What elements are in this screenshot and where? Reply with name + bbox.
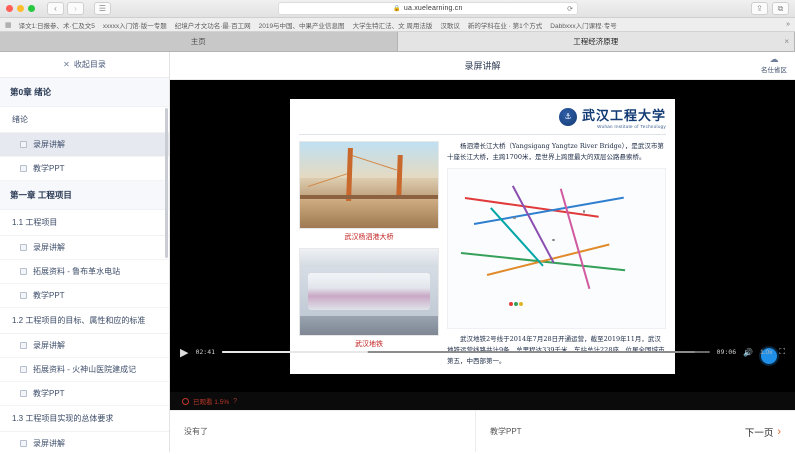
outline-leaf-label: 录屏讲解 — [33, 139, 65, 150]
tab-close-icon[interactable]: × — [784, 37, 789, 46]
video-player[interactable]: ⚓ 武汉工程大学 Wuhan Institute of Technology — [170, 80, 795, 392]
close-window-button[interactable] — [6, 5, 13, 12]
browser-tab-course[interactable]: 工程经济原理 × — [398, 32, 795, 51]
close-icon: ✕ — [63, 60, 70, 69]
university-emblem-icon: ⚓ — [559, 108, 577, 126]
outline-leaf-recording[interactable]: 录屏讲解 — [0, 236, 169, 260]
next-item[interactable]: 教学PPT 下一页 › — [476, 411, 795, 452]
university-name-en: Wuhan Institute of Technology — [582, 124, 666, 129]
page-title: 录屏讲解 — [464, 59, 500, 72]
outline-leaf-label: 拓展资料 - 鲁布革水电站 — [33, 266, 120, 277]
outline-leaf-ppt[interactable]: 教学PPT — [0, 382, 169, 406]
navigation-buttons: ‹ › — [47, 2, 84, 15]
tab-strip: 主页 工程经济原理 × — [0, 32, 795, 52]
bookmark-item[interactable]: Dabbxxx入门课程·专号 — [550, 20, 616, 30]
slide-frame: ⚓ 武汉工程大学 Wuhan Institute of Technology — [290, 99, 675, 374]
tab-title: 主页 — [191, 36, 206, 47]
maximize-window-button[interactable] — [28, 5, 35, 12]
outline-leaf-label: 教学PPT — [33, 163, 65, 174]
play-icon[interactable]: ▶ — [180, 346, 188, 359]
outline-leaf-label: 录屏讲解 — [33, 242, 65, 253]
legend-dot — [514, 302, 518, 306]
bridge-caption: 武汉杨泗港大桥 — [299, 229, 439, 242]
bridge-tower — [396, 155, 403, 198]
outline-chapter[interactable]: 第0章 绪论 — [0, 78, 169, 107]
help-icon[interactable]: ? — [233, 398, 237, 405]
university-name-cn: 武汉工程大学 — [582, 105, 666, 124]
city-skyline — [300, 178, 438, 197]
outline-section[interactable]: 1.1 工程项目 — [0, 210, 169, 236]
metro-station-dot — [513, 217, 516, 220]
next-page-button[interactable]: 下一页 › — [745, 425, 781, 439]
next-title: 教学PPT — [490, 426, 522, 437]
metro-photo — [299, 248, 439, 336]
volume-icon[interactable]: 🔊 — [743, 348, 753, 357]
total-time: 09:06 — [717, 348, 737, 356]
played-bar — [222, 351, 368, 353]
reload-icon[interactable]: ⟳ — [567, 5, 573, 13]
sidebar-toggle-icon[interactable]: ☰ — [94, 2, 111, 15]
toolbar-right-icons: ⇪ ⧉ — [751, 2, 789, 15]
tabs-icon[interactable]: ⧉ — [772, 2, 789, 15]
outline-leaf-recording[interactable]: 录屏讲解 — [0, 334, 169, 358]
player-controls: ▶ 02:41 09:06 🔊 1.0x ⛶ — [170, 342, 795, 362]
bookmark-item[interactable]: 汉歌议 — [440, 20, 460, 30]
sidebar-scrollbar[interactable] — [165, 108, 168, 258]
bridge-deck — [300, 195, 438, 199]
watch-progress-label: 已观看 1.5% — [193, 396, 229, 406]
checkbox-icon[interactable] — [20, 268, 27, 275]
progress-slider[interactable] — [222, 351, 710, 353]
previous-item: 没有了 — [170, 411, 476, 452]
apps-grid-icon[interactable]: ▦ — [5, 21, 11, 29]
metro-map-graphic — [447, 168, 666, 330]
bookmark-item[interactable]: 2019与中国、中果产业信息图 — [259, 20, 345, 30]
back-button[interactable]: ‹ — [47, 2, 64, 15]
content-header: 录屏讲解 ☁ 名仕省区 — [170, 52, 795, 80]
bookmark-item[interactable]: 大学生特汇法、文 周用法版 — [353, 20, 433, 30]
bridge-paragraph: 杨泗港长江大桥（Yangsigang Yangtze River Bridge）… — [447, 141, 666, 163]
outline-leaf-label: 录屏讲解 — [33, 438, 65, 449]
station-ceiling — [300, 249, 438, 268]
fullscreen-icon[interactable]: ⛶ — [779, 347, 785, 357]
chevron-right-icon: › — [777, 426, 781, 438]
browser-tab-home[interactable]: 主页 — [0, 32, 398, 51]
legend-dot — [509, 302, 513, 306]
course-player-app: ✕ 收起目录 第0章 绪论 绪论 录屏讲解 教学PPT 第一章 工程项目 1.1… — [0, 52, 795, 452]
bridge-cable — [352, 155, 397, 170]
outline-leaf-extra[interactable]: 拓展资料 - 火神山医院建成记 — [0, 358, 169, 382]
slide-divider — [299, 134, 666, 135]
outline-leaf-ppt[interactable]: 教学PPT — [0, 157, 169, 181]
outline-leaf-ppt[interactable]: 教学PPT — [0, 284, 169, 308]
outline-leaf-label: 录屏讲解 — [33, 340, 65, 351]
playback-speed-button[interactable]: 1.0x — [760, 349, 772, 356]
checkbox-icon[interactable] — [20, 292, 27, 299]
lock-icon: 🔒 — [393, 5, 400, 12]
legend-dot — [519, 302, 523, 306]
outline-leaf-recording[interactable]: 录屏讲解 — [0, 133, 169, 157]
window-controls[interactable] — [6, 5, 35, 12]
outline-leaf-extra[interactable]: 拓展资料 - 鲁布革水电站 — [0, 260, 169, 284]
outline-leaf-label: 教学PPT — [33, 290, 65, 301]
outline-section[interactable]: 绪论 — [0, 107, 169, 133]
bookmarks-bar: ▦ 译文1:日报参、术·仁及文5 xxxxx入门馆·版一专题 纪境户才文功名·最… — [0, 18, 795, 32]
share-icon[interactable]: ⇪ — [751, 2, 768, 15]
tab-title: 工程经济原理 — [573, 36, 618, 47]
checkbox-icon[interactable] — [20, 165, 27, 172]
slide-right-column: 杨泗港长江大桥（Yangsigang Yangtze River Bridge）… — [447, 141, 666, 368]
forward-button[interactable]: › — [67, 2, 84, 15]
url-text: ua.xuelearning.cn — [404, 5, 463, 12]
minimize-window-button[interactable] — [17, 5, 24, 12]
browser-chrome: ‹ › ☰ 🔒 ua.xuelearning.cn ⟳ ⇪ ⧉ ▦ 译文1:日报… — [0, 0, 795, 52]
previous-label: 没有了 — [184, 426, 208, 437]
metro-line — [512, 185, 554, 262]
bookmark-item[interactable]: 新的学科在业 · 第1个方式 — [468, 20, 542, 30]
main-content: 录屏讲解 ☁ 名仕省区 ⚓ 武汉工程大学 Wuhan Institute of … — [170, 52, 795, 452]
slide-body: 武汉杨泗港大桥 武汉地铁 杨泗港长江大桥（Yangsigang — [299, 141, 666, 368]
bridge-photo — [299, 141, 439, 229]
outline-section[interactable]: 1.2 工程项目的目标、属性和应的标准 — [0, 308, 169, 334]
station-platform — [300, 316, 438, 335]
metro-station-dot — [552, 239, 555, 242]
collapse-outline-label: 收起目录 — [74, 59, 106, 70]
outline-leaf-recording[interactable]: 录屏讲解 — [0, 432, 169, 452]
checkbox-icon[interactable] — [20, 390, 27, 397]
metro-line — [465, 197, 598, 217]
footer-navigation: 没有了 教学PPT 下一页 › — [170, 410, 795, 452]
outline-list[interactable]: 第0章 绪论 绪论 录屏讲解 教学PPT 第一章 工程项目 1.1 工程项目 录… — [0, 78, 169, 452]
checkbox-icon[interactable] — [20, 342, 27, 349]
checkbox-icon[interactable] — [20, 244, 27, 251]
checkbox-icon[interactable] — [20, 366, 27, 373]
metro-station-dot — [583, 210, 586, 213]
bookmark-item[interactable]: 译文1:日报参、术·仁及文5 — [19, 20, 95, 30]
outline-section[interactable]: 1.3 工程项目实现的总体要求 — [0, 406, 169, 432]
outline-leaf-label: 拓展资料 - 火神山医院建成记 — [33, 364, 136, 375]
metro-legend-dots — [509, 302, 523, 306]
address-bar-container: 🔒 ua.xuelearning.cn ⟳ — [116, 2, 740, 15]
metro-line — [487, 244, 609, 276]
outline-chapter[interactable]: 第一章 工程项目 — [0, 181, 169, 210]
browser-titlebar: ‹ › ☰ 🔒 ua.xuelearning.cn ⟳ ⇪ ⧉ — [0, 0, 795, 18]
bookmark-item[interactable]: 纪境户才文功名·最·百工网 — [175, 20, 251, 30]
cloud-service-button[interactable]: ☁ 名仕省区 — [761, 54, 787, 74]
collapse-outline-button[interactable]: ✕ 收起目录 — [0, 52, 169, 78]
course-outline-sidebar: ✕ 收起目录 第0章 绪论 绪论 录屏讲解 教学PPT 第一章 工程项目 1.1… — [0, 52, 170, 452]
progress-ring-icon — [182, 398, 189, 405]
next-page-label: 下一页 — [745, 425, 774, 439]
current-time: 02:41 — [195, 348, 215, 356]
cloud-service-label: 名仕省区 — [761, 64, 787, 74]
watch-progress-bar: 已观看 1.5% ? — [170, 392, 795, 410]
slide-left-column: 武汉杨泗港大桥 武汉地铁 — [299, 141, 439, 368]
address-bar[interactable]: 🔒 ua.xuelearning.cn ⟳ — [278, 2, 578, 15]
metro-train — [308, 273, 429, 311]
checkbox-icon[interactable] — [20, 141, 27, 148]
bookmark-item[interactable]: xxxxx入门馆·版一专题 — [103, 20, 167, 30]
bookmarks-overflow-icon[interactable]: » — [786, 21, 790, 28]
cloud-icon: ☁ — [770, 54, 779, 64]
outline-leaf-label: 教学PPT — [33, 388, 65, 399]
slide-logo: ⚓ 武汉工程大学 Wuhan Institute of Technology — [299, 105, 666, 129]
checkbox-icon[interactable] — [20, 440, 27, 447]
